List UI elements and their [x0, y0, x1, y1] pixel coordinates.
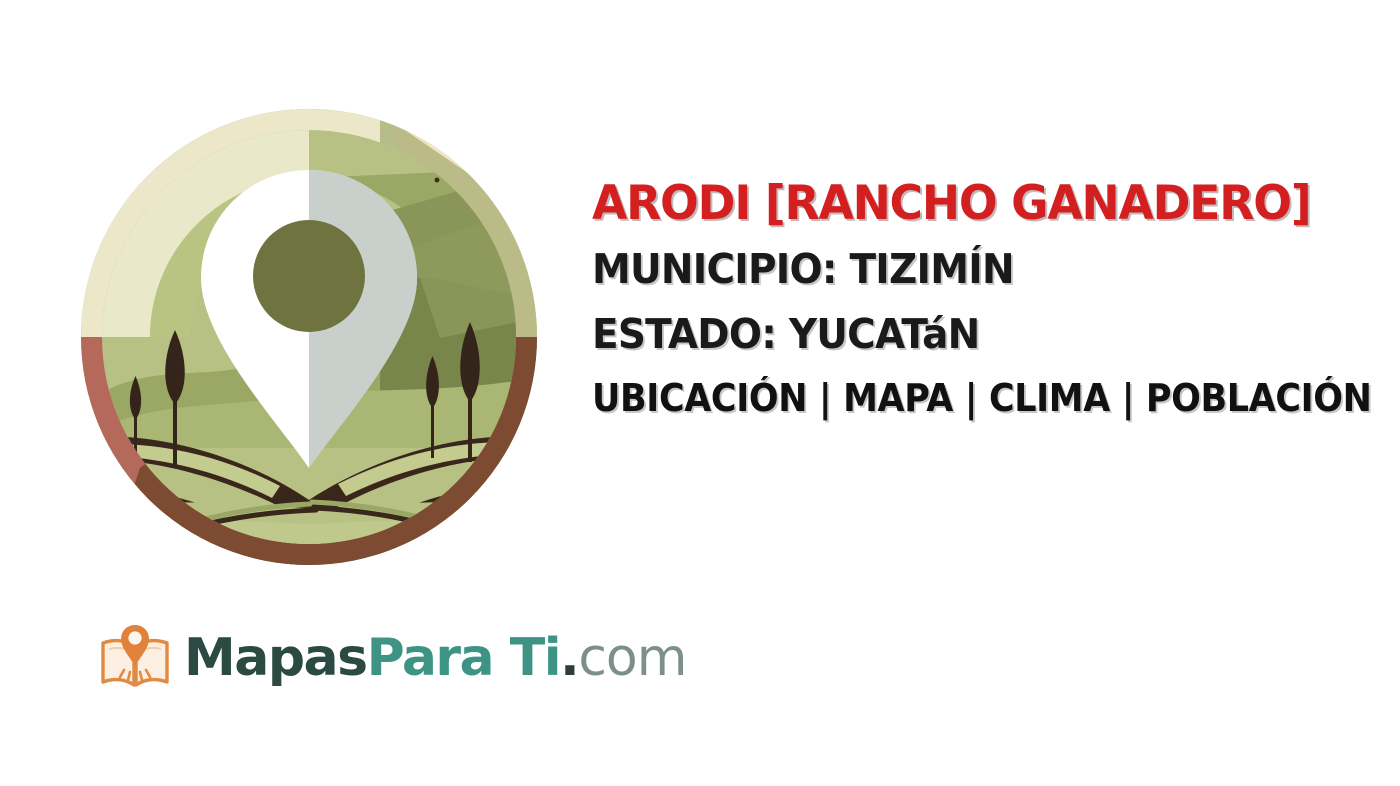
brand-wordmark: MapasPara Ti.com [184, 632, 686, 684]
brand-word-mapas: Mapas [184, 628, 367, 688]
landscape-badge-image [80, 108, 538, 566]
open-book-pin-icon [98, 621, 172, 695]
section-links[interactable]: UBICACIÓN | MAPA | CLIMA | POBLACIÓN [592, 379, 1319, 417]
page-canvas: MapasPara Ti.com ARODI [RANCHO GANADERO]… [0, 0, 1400, 786]
bird-speck [435, 178, 440, 183]
info-block: ARODI [RANCHO GANADERO] MUNICIPIO: TIZIM… [592, 180, 1382, 417]
brand-word-parati: Para Ti [367, 628, 560, 688]
municipio-line: MUNICIPIO: TIZIMÍN [592, 249, 1343, 290]
brand-logo[interactable]: MapasPara Ti.com [98, 618, 686, 698]
page-title: ARODI [RANCHO GANADERO] [592, 180, 1358, 227]
brand-word-com: com [578, 628, 686, 688]
brand-word-dot: . [560, 628, 578, 688]
estado-line: ESTADO: YUCATáN [592, 314, 1343, 355]
